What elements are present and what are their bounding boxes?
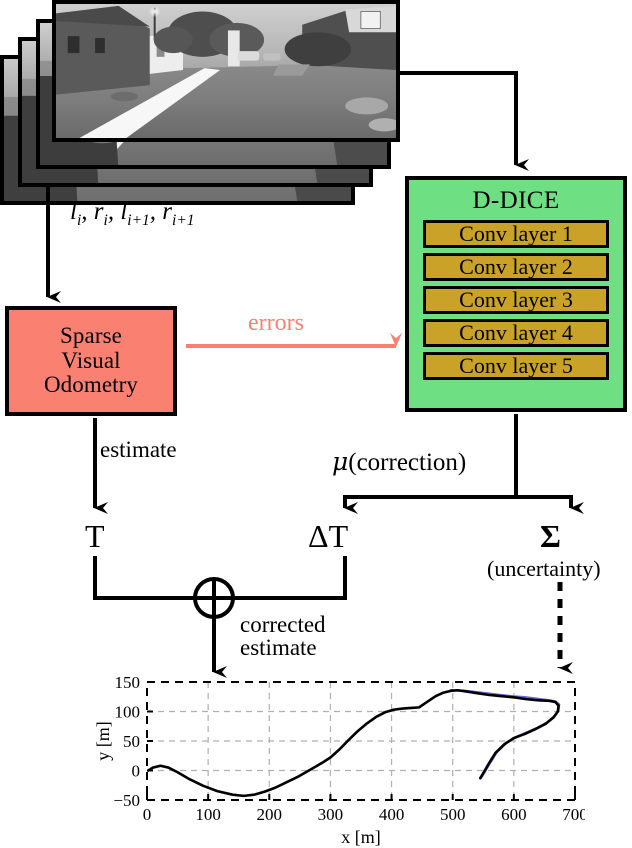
x-tick-label: 600 — [501, 805, 527, 824]
input-r-i: ri — [94, 198, 108, 225]
sigma-label: Σ — [540, 518, 561, 555]
delta-T-label: ΔT — [308, 518, 348, 555]
trajectory-plot-svg: 0100200300400500600700−50050100150x [m]y… — [95, 672, 585, 848]
svo-line-3: Odometry — [44, 373, 138, 398]
conv-layer-4[interactable]: Conv layer 4 — [423, 319, 609, 347]
image-frame-1 — [52, 0, 400, 142]
stereo-image-stack — [0, 0, 400, 205]
y-tick-label: 0 — [132, 762, 141, 781]
y-axis-label: y [m] — [95, 721, 113, 761]
input-l-i: li — [70, 198, 81, 225]
trajectory-series — [148, 690, 558, 796]
input-l-i1: li+1 — [120, 198, 149, 225]
wire-images-to-ddice — [400, 73, 516, 165]
mu-symbol: μ — [332, 447, 348, 476]
x-tick-label: 300 — [318, 805, 344, 824]
x-axis-label: x [m] — [341, 827, 381, 847]
sum-operator-circle — [195, 579, 233, 617]
conv-layer-5[interactable]: Conv layer 5 — [423, 352, 609, 380]
conv-layer-1[interactable]: Conv layer 1 — [423, 220, 609, 248]
x-tick-label: 200 — [257, 805, 283, 824]
estimate-label: estimate — [100, 437, 177, 463]
x-tick-label: 0 — [143, 805, 152, 824]
y-tick-label: −50 — [113, 791, 140, 810]
d-dice-box[interactable]: D-DICE Conv layer 1 Conv layer 2 Conv la… — [405, 176, 627, 412]
sparse-visual-odometry-box[interactable]: Sparse Visual Odometry — [5, 306, 177, 416]
corrected-estimate-label: corrected estimate — [240, 613, 326, 659]
errors-label: errors — [248, 310, 304, 337]
corrected-line-1: corrected — [240, 613, 326, 636]
y-tick-label: 100 — [115, 703, 141, 722]
input-frames-label: li, ri, li+1, ri+1 — [70, 198, 195, 230]
svo-line-1: Sparse — [60, 324, 122, 349]
x-tick-label: 500 — [440, 805, 466, 824]
mu-correction-label: μ(correction) — [332, 447, 466, 477]
d-dice-title: D-DICE — [472, 187, 559, 215]
correction-text: (correction) — [348, 449, 466, 476]
conv-layer-2[interactable]: Conv layer 2 — [423, 253, 609, 281]
input-r-i1: ri+1 — [162, 198, 194, 225]
conv-layer-3[interactable]: Conv layer 3 — [423, 286, 609, 314]
y-tick-label: 150 — [115, 673, 141, 692]
x-tick-label: 700 — [562, 805, 585, 824]
x-tick-label: 100 — [195, 805, 221, 824]
corrected-line-2: estimate — [240, 636, 326, 659]
trajectory-plot: 0100200300400500600700−50050100150x [m]y… — [95, 672, 585, 848]
transform-T-label: T — [85, 518, 105, 555]
uncertainty-label: (uncertainty) — [487, 556, 601, 582]
y-tick-label: 50 — [123, 732, 140, 751]
x-tick-label: 400 — [379, 805, 405, 824]
trajectory-series — [451, 690, 559, 778]
svo-line-2: Visual — [61, 349, 120, 374]
